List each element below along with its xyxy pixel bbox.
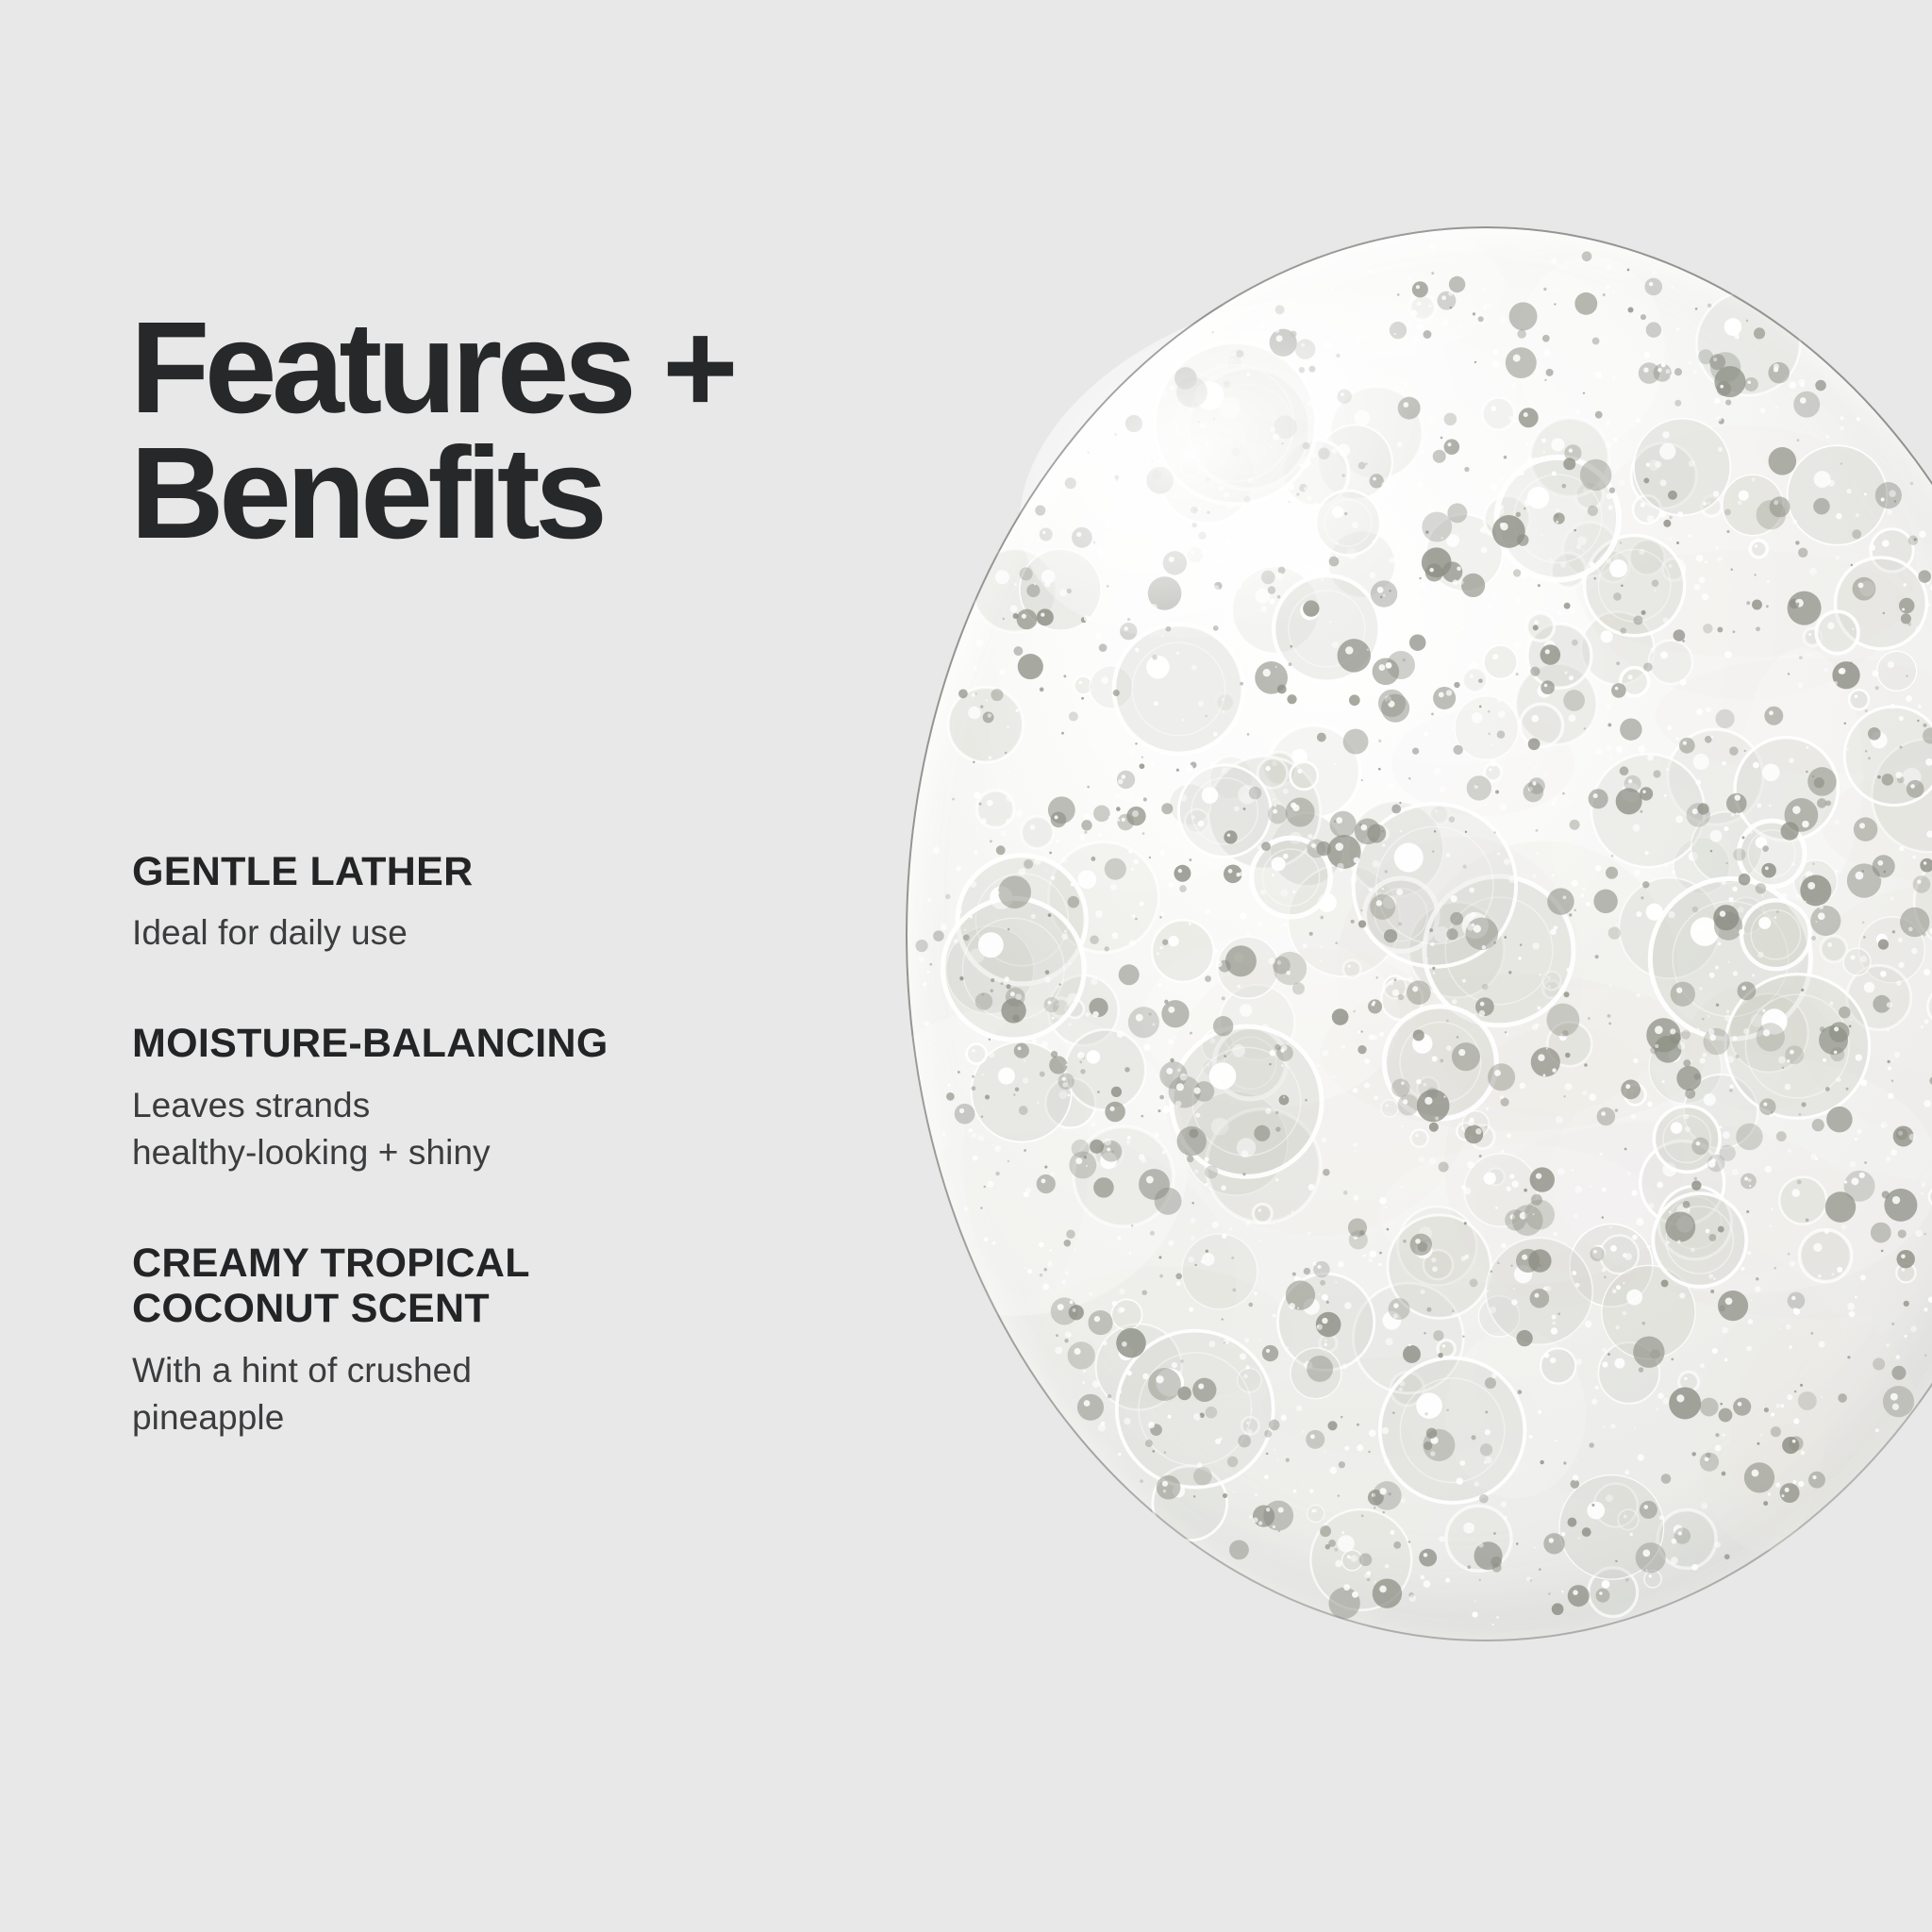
feature-item-moisture-balancing: MOISTURE-BALANCING Leaves strands health… bbox=[132, 1021, 849, 1176]
feature-title-line-1: CREAMY TROPICAL bbox=[132, 1241, 530, 1286]
feature-item-coconut-scent: CREAMY TROPICAL COCONUT SCENT With a hin… bbox=[132, 1241, 849, 1441]
feature-description: With a hint of crushed pineapple bbox=[132, 1347, 849, 1442]
feature-title: CREAMY TROPICAL COCONUT SCENT bbox=[132, 1241, 849, 1331]
feature-description-line-1: With a hint of crushed bbox=[132, 1351, 472, 1390]
page-title-line-2: Benefits bbox=[130, 431, 904, 556]
feature-description: Ideal for daily use bbox=[132, 909, 849, 957]
feature-description: Leaves strands healthy-looking + shiny bbox=[132, 1082, 849, 1177]
feature-description-line-2: healthy-looking + shiny bbox=[132, 1133, 491, 1172]
feature-list: GENTLE LATHER Ideal for daily use MOISTU… bbox=[132, 849, 849, 1441]
feature-item-gentle-lather: GENTLE LATHER Ideal for daily use bbox=[132, 849, 849, 957]
feature-title-line-2: COCONUT SCENT bbox=[132, 1286, 490, 1331]
gel-blob-shape bbox=[906, 226, 1932, 1641]
feature-title-line-1: GENTLE LATHER bbox=[132, 849, 473, 894]
feature-title: GENTLE LATHER bbox=[132, 849, 849, 894]
feature-description-line-2: pineapple bbox=[132, 1398, 284, 1437]
feature-description-line-1: Ideal for daily use bbox=[132, 913, 408, 952]
feature-title-line-1: MOISTURE-BALANCING bbox=[132, 1021, 608, 1066]
feature-description-line-1: Leaves strands bbox=[132, 1086, 370, 1124]
feature-title: MOISTURE-BALANCING bbox=[132, 1021, 849, 1066]
text-column: Features + Benefits GENTLE LATHER Ideal … bbox=[0, 0, 906, 1932]
product-feature-panel: Features + Benefits GENTLE LATHER Ideal … bbox=[0, 0, 1932, 1932]
gel-bubble-texture bbox=[906, 226, 1932, 1641]
gel-swatch-image bbox=[906, 226, 1932, 1641]
page-title: Features + Benefits bbox=[130, 306, 904, 556]
page-title-line-1: Features + bbox=[130, 306, 904, 430]
gel-edge-rim bbox=[906, 226, 1932, 1641]
gel-highlight-sheen bbox=[969, 231, 1541, 704]
